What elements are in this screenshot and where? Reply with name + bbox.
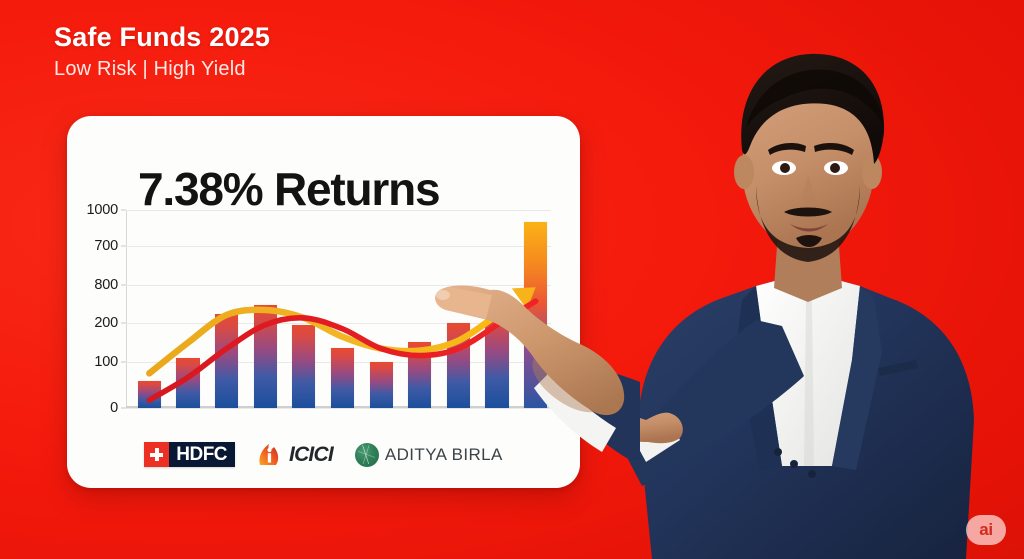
right-eye — [824, 161, 848, 175]
suit-button-3 — [808, 470, 816, 478]
hdfc-cross-icon — [144, 442, 169, 467]
y-axis-tick-label: 100 — [94, 354, 118, 370]
aditya-birla-sun-icon — [355, 443, 379, 467]
page-subtitle: Low Risk | High Yield — [54, 57, 270, 81]
right-pupil — [830, 163, 840, 173]
page-title: Safe Funds 2025 — [54, 22, 270, 53]
neck — [774, 232, 842, 302]
suit-button-2 — [790, 460, 798, 468]
chin-patch — [796, 235, 822, 247]
chart-bar — [485, 309, 508, 408]
head — [742, 86, 874, 250]
y-axis-tick-label: 200 — [94, 315, 118, 331]
beard — [756, 186, 860, 262]
presenter-figure — [560, 0, 1024, 559]
icici-label: ICICI — [289, 444, 333, 465]
chart-bar — [331, 348, 354, 408]
chart-container: 7.38% Returns 10007008002001000 — [67, 116, 580, 488]
hair-sweep — [746, 70, 884, 128]
hdfc-label: HDFC — [169, 442, 235, 467]
y-axis-tick-label: 0 — [110, 400, 118, 416]
mouth — [790, 224, 828, 232]
partner-logos-row: HDFC — [67, 441, 580, 468]
chart-bar — [292, 325, 315, 408]
y-axis-tick-label: 1000 — [87, 202, 118, 218]
header-block: Safe Funds 2025 Low Risk | High Yield — [54, 22, 270, 81]
hair — [741, 54, 884, 164]
icici-flame-icon — [257, 441, 283, 468]
shirt-placket — [804, 300, 814, 466]
nose — [802, 174, 816, 205]
near-pointing-hand — [582, 413, 683, 444]
chart-bar — [370, 362, 393, 408]
near-arm-sleeve — [620, 320, 804, 486]
chart-bar — [524, 222, 547, 408]
logo-hdfc[interactable]: HDFC — [144, 442, 235, 467]
chart-bar — [138, 381, 161, 408]
right-lapel — [832, 286, 882, 470]
chart-bar — [215, 314, 238, 408]
logo-aditya-birla[interactable]: ADITYA BIRLA — [355, 443, 503, 467]
left-ear — [734, 155, 754, 189]
y-axis-tick-label: 800 — [94, 277, 118, 293]
left-lapel — [736, 286, 782, 470]
chart-card: 7.38% Returns 10007008002001000 — [67, 116, 580, 488]
gridline — [126, 408, 551, 409]
right-eyebrow — [814, 143, 854, 155]
near-arm-cuff — [632, 414, 680, 462]
suit-button-1 — [774, 448, 782, 456]
ai-watermark-badge: ai — [966, 515, 1006, 545]
bars-group — [126, 210, 551, 408]
chart-bar — [447, 323, 470, 408]
chest-pocket — [878, 360, 918, 376]
chart-headline: 7.38% Returns — [138, 162, 439, 216]
chart-bar — [254, 305, 277, 408]
shirt — [756, 272, 860, 466]
chart-bar — [176, 358, 199, 408]
left-eyebrow — [768, 143, 806, 155]
moustache — [784, 208, 832, 217]
chart-plot-area: 10007008002001000 — [126, 210, 551, 408]
left-pupil — [780, 163, 790, 173]
poster-canvas: Safe Funds 2025 Low Risk | High Yield 7.… — [0, 0, 1024, 559]
left-eye — [772, 161, 796, 175]
aditya-birla-label: ADITYA BIRLA — [385, 446, 503, 463]
suit-body — [638, 272, 974, 559]
chart-bar — [408, 342, 431, 408]
right-ear — [862, 155, 882, 189]
logo-icici[interactable]: ICICI — [257, 441, 333, 468]
y-axis-tick-label: 700 — [94, 238, 118, 254]
